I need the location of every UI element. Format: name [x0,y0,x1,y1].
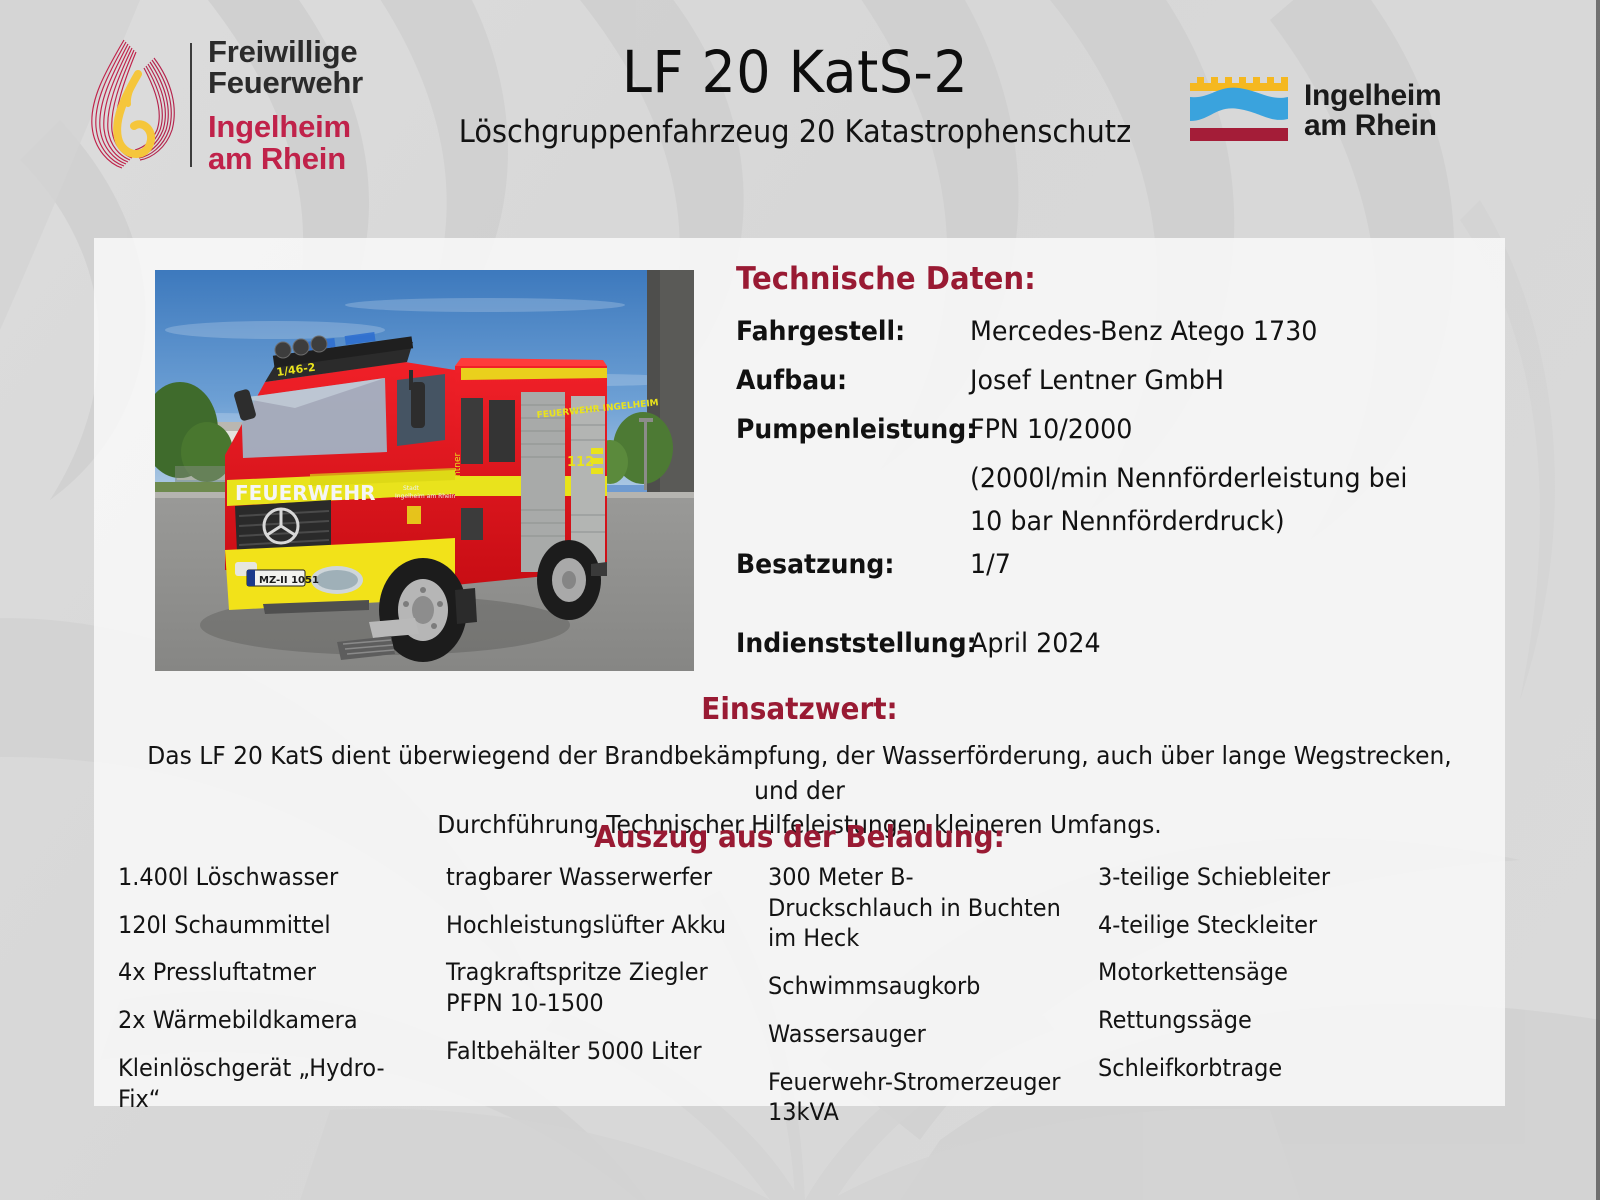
fire-brigade-logo: Freiwillige Feuerwehr Ingelheim am Rhein [78,30,378,180]
tech-row-pumpenleistung: Pumpenleistung: FPN 10/2000 [736,414,1496,445]
beladung-item: tragbarer Wasserwerfer [446,862,747,893]
logo-wordmark: Freiwillige Feuerwehr Ingelheim am Rhein [208,36,363,174]
tech-row-fahrgestell: Fahrgestell: Mercedes-Benz Atego 1730 [736,316,1496,347]
tech-value-aufbau: Josef Lentner GmbH [970,365,1224,396]
technical-data-section: Technische Daten: Fahrgestell: Mercedes-… [736,261,1496,677]
svg-text:MZ-II 1051: MZ-II 1051 [259,575,319,586]
beladung-columns: 1.400l Löschwasser 120l Schaummittel 4x … [118,862,1498,1145]
city-wordmark: Ingelheim am Rhein [1304,81,1441,141]
beladung-column-1: 1.400l Löschwasser 120l Schaummittel 4x … [118,862,446,1131]
logo-line-am-rhein: am Rhein [208,143,363,175]
fire-truck-illustration: FEUERWEHR INGELHEIM 112 lentner 1/4 [155,270,694,671]
vehicle-photo: FEUERWEHR INGELHEIM 112 lentner 1/4 [155,270,694,671]
beladung-item: Schwimmsaugkorb [768,971,1077,1002]
tech-row-besatzung: Besatzung: 1/7 [736,549,1496,580]
tech-label-pumpenleistung: Pumpenleistung: [736,414,954,445]
tech-label-besatzung: Besatzung: [736,549,954,580]
technical-data-heading: Technische Daten: [736,261,1450,297]
logo-divider [190,43,192,167]
beladung-item: 1.400l Löschwasser [118,862,425,893]
beladung-column-4: 3-teilige Schiebleiter 4-teilige Steckle… [1098,862,1418,1101]
page-header: Freiwillige Feuerwehr Ingelheim am Rhein… [0,0,1600,238]
beladung-item: Feuerwehr-Stromerzeuger 13kVA [768,1067,1077,1128]
tech-value-besatzung: 1/7 [970,549,1011,580]
beladung-item: 4x Pressluftatmer [118,957,425,988]
beladung-item: Kleinlöschgerät „Hydro-Fix“ [118,1053,425,1114]
beladung-item: Faltbehälter 5000 Liter [446,1036,747,1067]
beladung-column-3: 300 Meter B-Druckschlauch in Buchten im … [768,862,1098,1145]
beladung-heading: Auszug aus der Beladung: [143,820,1455,855]
beladung-item: 3-teilige Schiebleiter [1098,862,1397,893]
city-logo: Ingelheim am Rhein [1190,75,1441,147]
svg-text:FEUERWEHR: FEUERWEHR [235,481,376,505]
page-title: LF 20 KatS-2 [428,42,1163,103]
logo-line-ingelheim: Ingelheim [208,111,363,143]
tech-label-indienststellung: Indienststellung: [736,628,954,659]
beladung-item: 4-teilige Steckleiter [1098,910,1397,941]
svg-text:Stadt: Stadt [403,485,420,492]
logo-line-freiwillige: Freiwillige [208,36,363,68]
beladung-item: Motorkettensäge [1098,957,1397,988]
tech-value-fahrgestell: Mercedes-Benz Atego 1730 [970,316,1317,347]
svg-text:Ingelheim am Rhein: Ingelheim am Rhein [395,493,455,500]
tech-pump-note-line2: 10 bar Nennförderdruck) [970,506,1464,537]
title-block: LF 20 KatS-2 Löschgruppenfahrzeug 20 Kat… [400,42,1190,149]
city-crest-icon [1190,75,1290,147]
flame-icon [78,34,186,176]
svg-text:112: 112 [567,455,594,470]
slide-right-edge [1596,0,1600,1200]
tech-row-indienststellung: Indienststellung: April 2024 [736,628,1496,659]
tech-label-aufbau: Aufbau: [736,365,954,396]
city-line-am-rhein: am Rhein [1304,111,1441,141]
beladung-item: Rettungssäge [1098,1005,1397,1036]
beladung-item: Schleifkorbtrage [1098,1053,1397,1084]
tech-value-pumpenleistung: FPN 10/2000 [970,414,1132,445]
tech-pump-note-line1: (2000l/min Nennförderleistung bei [970,463,1464,494]
logo-line-feuerwehr: Feuerwehr [208,67,363,99]
city-line-ingelheim: Ingelheim [1304,81,1441,111]
einsatzwert-heading: Einsatzwert: [143,692,1455,727]
beladung-item: 300 Meter B-Druckschlauch in Buchten im … [768,862,1077,954]
beladung-item: Hochleistungslüfter Akku [446,910,747,941]
tech-label-fahrgestell: Fahrgestell: [736,316,954,347]
tech-value-indienststellung: April 2024 [970,628,1101,659]
page-subtitle: Löschgruppenfahrzeug 20 Katastrophenschu… [428,115,1163,149]
tech-spacer [736,598,1496,628]
beladung-item: 120l Schaummittel [118,910,425,941]
tech-row-aufbau: Aufbau: Josef Lentner GmbH [736,365,1496,396]
beladung-column-2: tragbarer Wasserwerfer Hochleistungslüft… [446,862,768,1084]
beladung-item: Wassersauger [768,1019,1077,1050]
einsatzwert-line-1: Das LF 20 KatS dient überwiegend der Bra… [140,739,1459,808]
beladung-item: 2x Wärmebildkamera [118,1005,425,1036]
beladung-item: Tragkraftspritze Ziegler PFPN 10-1500 [446,957,747,1018]
